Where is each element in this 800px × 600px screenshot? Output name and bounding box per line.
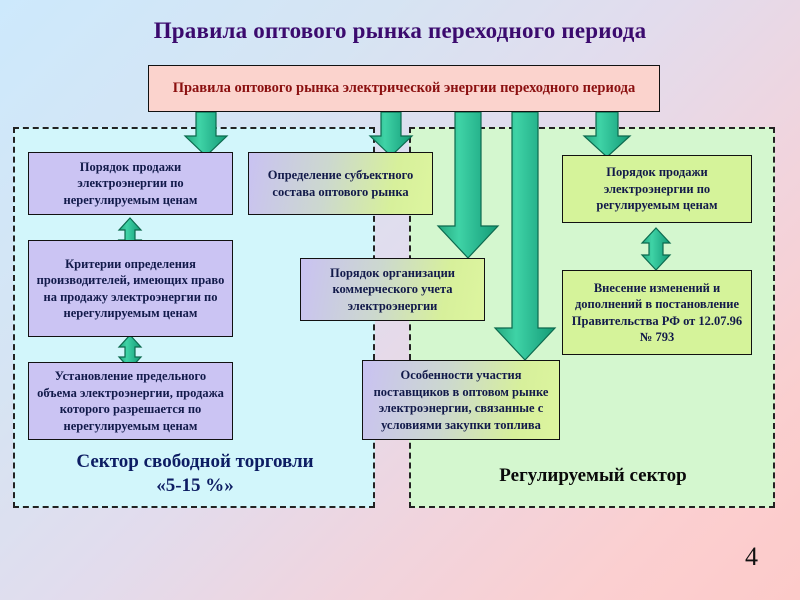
sector-free-trade-caption-line1: Сектор свободной торговли — [25, 450, 365, 474]
sector-regulated-caption: Регулируемый сектор — [425, 464, 761, 488]
node-producer-criteria[interactable]: Критерии определения производителей, име… — [28, 240, 233, 337]
header-box[interactable]: Правила оптового рынка электрической эне… — [148, 65, 660, 112]
node-subject-composition[interactable]: Определение субъектного состава оптового… — [248, 152, 433, 215]
node-fuel-supply-terms[interactable]: Особенности участия поставщиков в оптово… — [362, 360, 560, 440]
arrow-header-to-subject-composition — [370, 112, 412, 156]
header-box-label: Правила оптового рынка электрической эне… — [173, 80, 636, 97]
slide-canvas: Правила оптового рынка переходного перио… — [0, 0, 800, 600]
sector-free-trade-caption-line2: «5-15 %» — [25, 474, 365, 498]
node-metering-order[interactable]: Порядок организации коммерческого учета … — [300, 258, 485, 321]
node-regulated-price-order[interactable]: Порядок продажи электроэнергии по регули… — [562, 155, 752, 223]
page-title: Правила оптового рынка переходного перио… — [0, 18, 800, 44]
node-volume-limit[interactable]: Установление предельного объема электроэ… — [28, 362, 233, 440]
node-decree-amendments[interactable]: Внесение изменений и дополнений в постан… — [562, 270, 752, 355]
page-number: 4 — [745, 542, 758, 572]
sector-free-trade-caption: Сектор свободной торговли «5-15 %» — [25, 450, 365, 498]
node-free-price-order[interactable]: Порядок продажи электроэнергии по нерегу… — [28, 152, 233, 215]
